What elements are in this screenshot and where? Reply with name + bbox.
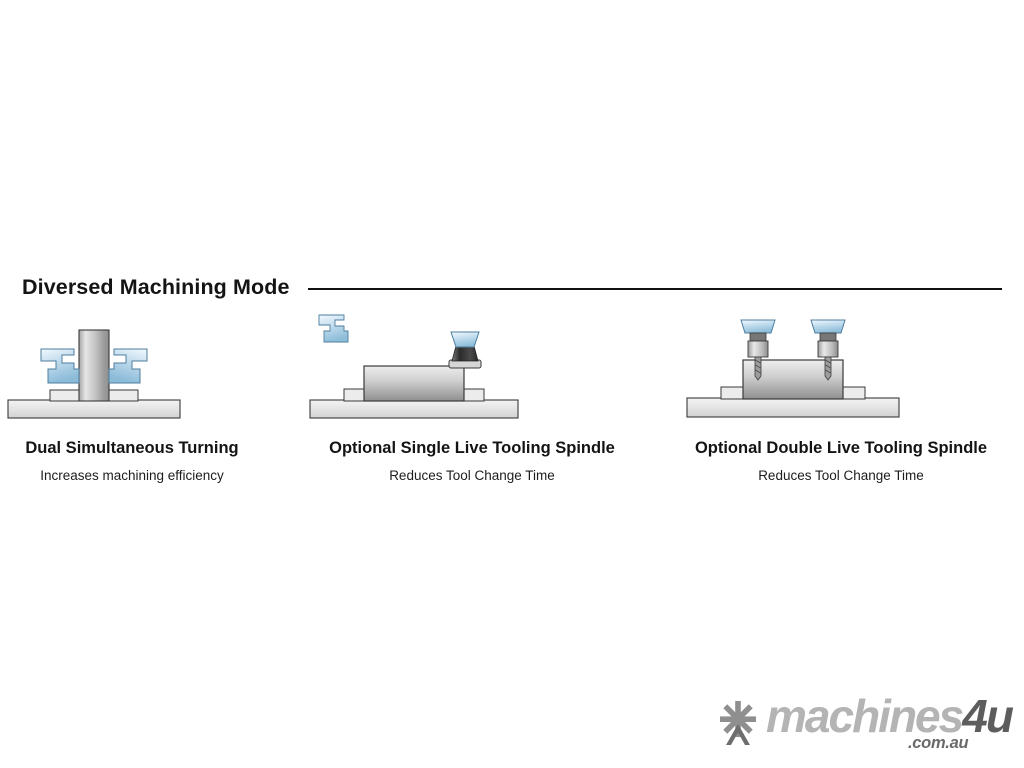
spindle-shank-right bbox=[820, 333, 836, 341]
section-header: Diversed Machining Mode bbox=[22, 272, 1002, 302]
caption-block: Optional Single Live Tooling Spindle Red… bbox=[302, 438, 642, 484]
caption-subtitle: Reduces Tool Change Time bbox=[302, 467, 642, 485]
logo-word-u: u bbox=[986, 690, 1012, 742]
machines4u-logo: machines4u .com.au bbox=[714, 696, 1014, 758]
base-plate bbox=[8, 400, 180, 418]
live-tooling-spindle bbox=[449, 332, 481, 368]
base-plate bbox=[310, 400, 518, 418]
spindle-head bbox=[451, 332, 479, 347]
caption-block: Dual Simultaneous Turning Increases mach… bbox=[0, 438, 302, 484]
base-plate bbox=[687, 398, 899, 417]
title-divider-rule bbox=[308, 288, 1002, 290]
machines4u-starburst-icon bbox=[714, 698, 762, 753]
spindle-shank-left bbox=[750, 333, 766, 341]
caption-title: Optional Single Live Tooling Spindle bbox=[302, 438, 642, 459]
caption-block: Optional Double Live Tooling Spindle Red… bbox=[671, 438, 1011, 484]
tool-holder-right bbox=[109, 349, 147, 383]
logo-tld: .com.au bbox=[908, 734, 968, 753]
logo-wordmark: machines4u bbox=[766, 693, 1012, 739]
page-title: Diversed Machining Mode bbox=[22, 275, 290, 300]
dual-simultaneous-turning-diagram bbox=[0, 310, 302, 435]
spindle-neck bbox=[452, 346, 478, 361]
spindle-head-left bbox=[741, 320, 775, 333]
tool-holder-right bbox=[818, 341, 838, 357]
double-live-tooling-spindle-diagram bbox=[671, 310, 1011, 435]
caption-subtitle: Reduces Tool Change Time bbox=[671, 467, 1011, 485]
tool-holder-left bbox=[41, 349, 79, 383]
single-live-tooling-spindle-diagram bbox=[302, 310, 642, 435]
mount-pad-right bbox=[106, 390, 138, 401]
caption-title: Dual Simultaneous Turning bbox=[0, 438, 302, 459]
panel-optional-single-live-tooling-spindle: Optional Single Live Tooling Spindle Red… bbox=[302, 310, 642, 500]
panel-dual-simultaneous-turning: Dual Simultaneous Turning Increases mach… bbox=[0, 310, 302, 500]
tool-holder-left bbox=[748, 341, 768, 357]
spindle-head-right bbox=[811, 320, 845, 333]
caption-subtitle: Increases machining efficiency bbox=[0, 467, 302, 485]
caption-title: Optional Double Live Tooling Spindle bbox=[671, 438, 1011, 459]
cylindrical-workpiece bbox=[79, 330, 109, 401]
mount-pad-left bbox=[50, 390, 82, 401]
detached-tool-holder-icon bbox=[319, 315, 348, 342]
disc-workpiece bbox=[364, 366, 464, 401]
panel-optional-double-live-tooling-spindle: Optional Double Live Tooling Spindle Red… bbox=[671, 310, 1011, 500]
